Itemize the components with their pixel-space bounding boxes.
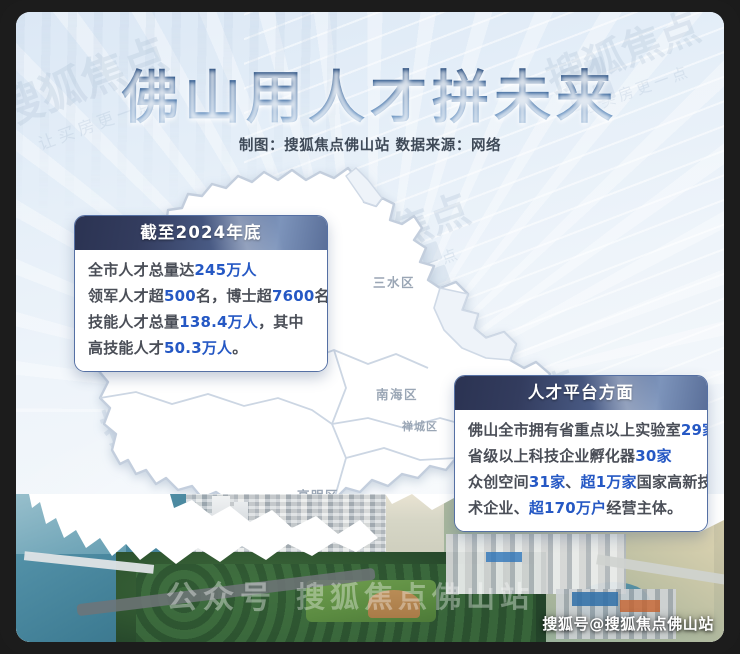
- card-line: 佛山全市拥有省重点以上实验室29家: [468, 420, 695, 442]
- highlight-value: 29家: [681, 421, 708, 439]
- photo-watermark-account: 公众号: [166, 572, 277, 617]
- highlight-value: 138.4万人: [179, 313, 258, 331]
- text-run: 高技能人才: [88, 339, 164, 357]
- card-line: 众创空间31家、超1万家国家高新技: [468, 472, 695, 494]
- text-run: 国家高新技: [637, 473, 708, 491]
- info-card-talent-platforms: 人才平台方面 佛山全市拥有省重点以上实验室29家省级以上科技企业孵化器30家众创…: [454, 375, 708, 532]
- text-run: 、: [565, 473, 580, 491]
- card-line: 省级以上科技企业孵化器30家: [468, 446, 695, 468]
- infographic-canvas: 搜狐焦点 让买房更一点 搜狐焦点 让买房更一点 搜狐焦点 让买房更一点 搜狐焦点…: [16, 12, 724, 642]
- text-run: ，其中: [258, 313, 304, 331]
- card-line: 高技能人才50.3万人。: [88, 338, 315, 360]
- district-label-chancheng: 禅城区: [402, 418, 438, 434]
- page-subtitle: 制图：搜狐焦点佛山站 数据来源：网络: [16, 134, 724, 155]
- district-label-nanhai: 南海区: [376, 384, 418, 403]
- text-run: 。: [232, 339, 247, 357]
- card-title: 截至2024年底: [75, 216, 327, 250]
- highlight-value: 500: [164, 287, 196, 305]
- text-run: 技能人才总量: [88, 313, 179, 331]
- text-run: 全市人才总量达: [88, 261, 194, 279]
- highlight-value: 30家: [635, 447, 671, 465]
- highlight-value: 245万人: [194, 261, 256, 279]
- text-run: 佛山全市拥有省重点以上实验室: [468, 421, 681, 439]
- district-label-sanshui: 三水区: [373, 272, 415, 291]
- text-run: 省级以上科技企业孵化器: [468, 447, 635, 465]
- highlight-value: 31家: [529, 473, 565, 491]
- card-title: 人才平台方面: [455, 376, 707, 410]
- page-title: 佛山用人才拼未来: [16, 52, 724, 134]
- highlight-value: 50.3万人: [164, 339, 232, 357]
- account-credit: 搜狐号@搜狐焦点佛山站: [542, 613, 714, 634]
- card-line: 术企业、超170万户经营主体。: [468, 498, 695, 520]
- text-run: 经营主体。: [606, 499, 682, 517]
- highlight-value: 7600: [272, 287, 315, 305]
- text-run: 名: [315, 287, 328, 305]
- card-line: 技能人才总量138.4万人，其中: [88, 312, 315, 334]
- highlight-value: 超170万户: [529, 499, 607, 517]
- card-line: 全市人才总量达245万人: [88, 260, 315, 282]
- image-frame: 搜狐焦点 让买房更一点 搜狐焦点 让买房更一点 搜狐焦点 让买房更一点 搜狐焦点…: [0, 0, 740, 654]
- text-run: 众创空间: [468, 473, 529, 491]
- text-run: 领军人才超: [88, 287, 164, 305]
- info-card-talent-totals: 截至2024年底 全市人才总量达245万人领军人才超500名，博士超7600名技…: [74, 215, 328, 372]
- text-run: 名，博士超: [196, 287, 272, 305]
- photo-watermark-brand: 搜狐焦点佛山站: [296, 574, 534, 616]
- card-body: 全市人才总量达245万人领军人才超500名，博士超7600名技能人才总量138.…: [75, 250, 327, 371]
- highlight-value: 超1万家: [581, 473, 637, 491]
- card-line: 领军人才超500名，博士超7600名: [88, 286, 315, 308]
- card-body: 佛山全市拥有省重点以上实验室29家省级以上科技企业孵化器30家众创空间31家、超…: [455, 410, 707, 531]
- text-run: 术企业、: [468, 499, 529, 517]
